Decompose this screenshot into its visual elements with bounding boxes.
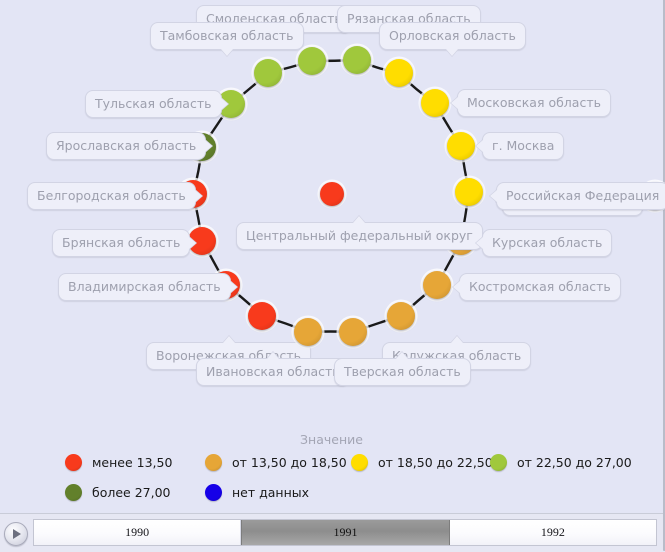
legend: Значение менее 13,50от 13,50 до 18,50от … [0,425,663,510]
node-b1850_2250[interactable] [421,89,449,117]
node-label[interactable]: Российская Федерация [496,182,665,210]
node-label-text: Центральный федеральный округ [246,228,473,243]
legend-swatch [490,454,507,471]
legend-item[interactable]: менее 13,50 [65,454,172,471]
callout-pointer [189,236,197,250]
node-label-text: Российская Федерация [506,188,659,203]
node-b1850_2250[interactable] [385,59,413,87]
node-b2250_2700[interactable] [298,47,326,75]
node-label[interactable]: Тверская область [334,358,471,386]
node-label-text: Белгородская область [37,188,186,203]
node-b2250_2700[interactable] [343,46,371,74]
callout-pointer [445,49,459,57]
callout-pointer [395,351,409,359]
callout-pointer [475,139,483,153]
node-b1350_1850[interactable] [423,271,451,299]
node-label-text: Брянская область [62,235,180,250]
node-b1350_1850[interactable] [339,318,367,346]
node-label-text: Владимирская область [68,279,221,294]
node-label[interactable]: Тульская область [85,90,222,118]
callout-pointer [205,139,213,153]
node-label-text: Тульская область [95,96,212,111]
node-label[interactable]: Владимирская область [58,273,231,301]
callout-pointer [352,215,366,223]
legend-item[interactable]: нет данных [205,484,309,501]
node-label[interactable]: Ивановская область [196,358,350,386]
node-b1850_2250[interactable] [455,178,483,206]
callout-pointer [489,189,497,203]
node-label-text: Ярославская область [56,138,196,153]
node-label-text: Курская область [492,235,602,250]
timeline-year-1992[interactable]: 1992 [450,520,656,545]
node-label-text: Тверская область [344,364,461,379]
play-button[interactable] [4,522,28,546]
legend-title: Значение [0,432,663,447]
callout-pointer [266,351,280,359]
visualization-window: Центральный федеральный округСмоленская … [0,0,665,551]
node-lt1350[interactable] [320,182,344,206]
legend-item[interactable]: от 22,50 до 27,00 [490,454,632,471]
node-label[interactable]: Орловская область [379,22,526,50]
node-label[interactable]: Брянская область [52,229,190,257]
node-label[interactable]: Костромская область [459,273,621,301]
node-label[interactable]: Ярославская область [46,132,206,160]
legend-item[interactable]: от 13,50 до 18,50 [205,454,347,471]
callout-pointer [452,280,460,294]
node-label[interactable]: Белгородская область [27,182,196,210]
callout-pointer [221,97,229,111]
legend-item[interactable]: от 18,50 до 22,50 [351,454,493,471]
node-label[interactable]: Московская область [457,89,611,117]
legend-label: более 27,00 [92,485,171,500]
callout-pointer [475,236,483,250]
timeline-year-1990[interactable]: 1990 [34,520,241,545]
node-label[interactable]: Центральный федеральный округ [236,222,483,250]
callout-pointer [450,96,458,110]
legend-swatch [351,454,368,471]
node-label-text: Тамбовская область [160,28,294,43]
timeline-year-1991[interactable]: 1991 [241,520,449,545]
node-label-text: Костромская область [469,279,611,294]
timeline-track[interactable]: 199019911992 [33,519,657,546]
legend-label: от 22,50 до 27,00 [517,455,632,470]
node-label-text: Московская область [467,95,601,110]
legend-swatch [205,484,222,501]
node-b1350_1850[interactable] [387,302,415,330]
timeline-bar[interactable]: 199019911992 [0,513,663,552]
legend-label: от 18,50 до 22,50 [378,455,493,470]
legend-label: менее 13,50 [92,455,172,470]
node-label-text: г. Москва [492,138,554,153]
play-icon [13,529,21,539]
callout-pointer [230,280,238,294]
node-lt1350[interactable] [248,302,276,330]
legend-swatch [65,454,82,471]
legend-label: нет данных [232,485,309,500]
legend-item[interactable]: более 27,00 [65,484,171,501]
node-label-text: Ивановская область [206,364,340,379]
node-b1350_1850[interactable] [294,318,322,346]
node-label[interactable]: Тамбовская область [150,22,304,50]
node-b2250_2700[interactable] [254,59,282,87]
callout-pointer [195,189,203,203]
legend-swatch [205,454,222,471]
callout-pointer [220,49,234,57]
callout-pointer [450,335,464,343]
node-label-text: Орловская область [389,28,516,43]
node-label[interactable]: Курская область [482,229,612,257]
callout-pointer [222,335,236,343]
node-label[interactable]: г. Москва [482,132,564,160]
legend-label: от 13,50 до 18,50 [232,455,347,470]
node-b1850_2250[interactable] [447,132,475,160]
legend-swatch [65,484,82,501]
